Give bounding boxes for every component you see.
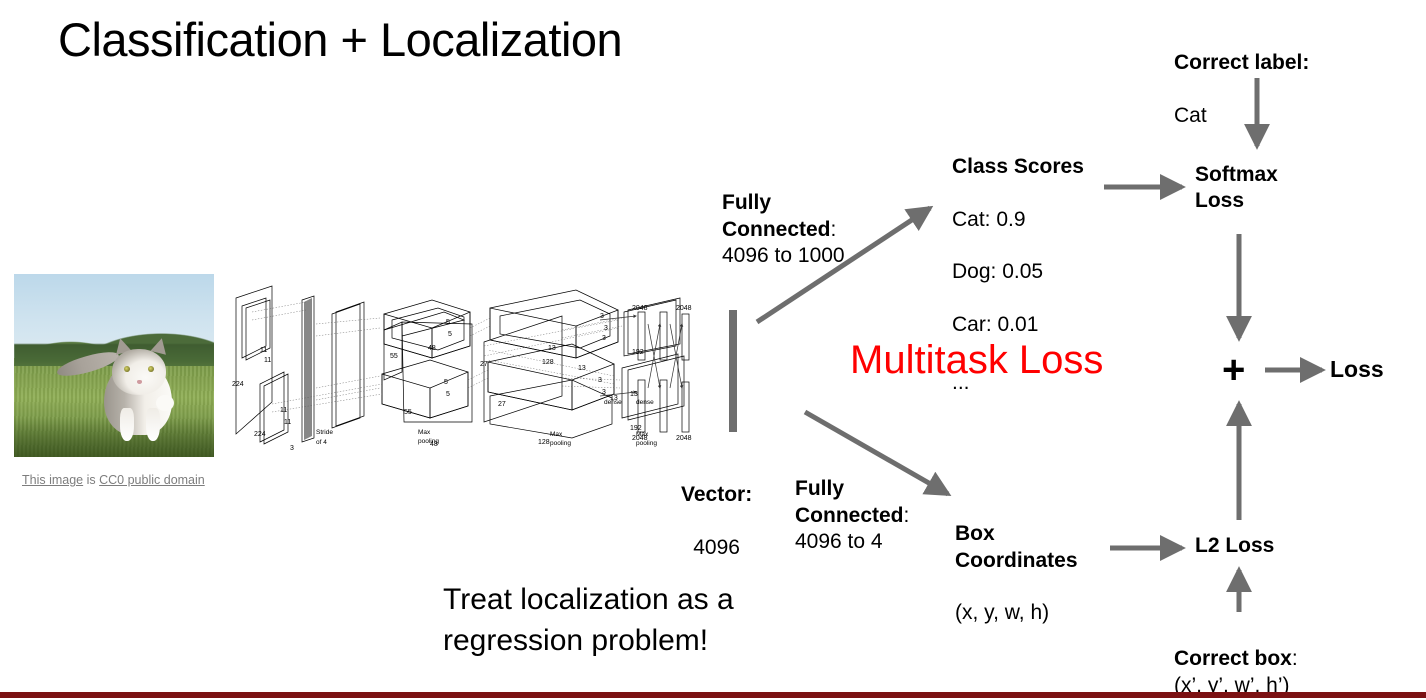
softmax-loss-node: Softmax Loss [1195,162,1278,215]
svg-text:2048: 2048 [632,435,648,442]
svg-text:224: 224 [232,381,244,388]
correct-box-heading: Correct box [1174,647,1292,670]
image-credit-separator: is [83,473,99,487]
class-score-row: Dog: 0.05 [952,259,1084,285]
slide-canvas: Classification + Localization This image… [0,0,1426,700]
cat-head [112,349,166,395]
svg-text:27: 27 [498,401,506,408]
fc1-detail: 4096 to 1000 [722,243,845,269]
box-coordinates-value: (x, y, w, h) [955,600,1078,626]
alexnet-architecture-diagram: 224 224 3 11 11 11 11 Stride of 4 55 55 … [232,284,694,450]
svg-text:Max: Max [550,431,563,438]
fully-connected-1-block: Fully Connected: 4096 to 1000 [722,164,845,295]
multitask-loss-annotation: Multitask Loss [850,338,1103,383]
svg-text:224: 224 [254,431,266,438]
fully-connected-2-block: Fully Connected: 4096 to 4 [795,450,909,581]
correct-label-block: Correct label: Cat [1174,24,1309,155]
input-image [14,274,214,457]
svg-text:27: 27 [480,361,488,368]
correct-box-block: Correct box: (x’, y’, w’, h’) [1174,620,1298,700]
cat-eye-right [148,366,154,372]
l2-loss-node: L2 Loss [1195,533,1274,559]
image-credit-link[interactable]: This image [22,473,83,487]
cat-leg-left [120,408,134,441]
total-loss-node: Loss [1330,356,1384,383]
class-score-row: Car: 0.01 [952,312,1084,338]
svg-text:128: 128 [542,359,554,366]
svg-text:3: 3 [600,313,604,320]
cat-paw [156,395,174,411]
vector-block: Vector: 4096 [681,456,752,587]
svg-text:3: 3 [602,389,606,396]
svg-text:pooling: pooling [418,438,439,445]
svg-text:128: 128 [538,439,550,446]
cat-photo [14,274,214,457]
svg-text:5: 5 [448,331,452,338]
svg-text:of 4: of 4 [316,439,327,446]
svg-text:3: 3 [604,325,608,332]
svg-text:Max: Max [418,429,431,436]
svg-text:5: 5 [446,319,450,326]
svg-text:13: 13 [578,365,586,372]
plus-operator: + [1222,350,1245,390]
svg-text:2048: 2048 [676,435,692,442]
fc1-label: Fully Connected [722,191,831,240]
svg-text:5: 5 [444,379,448,386]
svg-text:3: 3 [598,377,602,384]
feature-vector-bar [729,310,737,432]
bottom-note: Treat localization as a regression probl… [443,580,734,661]
vector-size: 4096 [681,535,752,561]
correct-label-value: Cat [1174,103,1309,129]
svg-text:pooling: pooling [550,440,571,447]
image-credit-caption: This image is CC0 public domain [22,473,205,487]
bottom-accent-bar [0,692,1426,698]
svg-text:3: 3 [602,335,606,342]
svg-text:2048: 2048 [632,305,648,312]
class-score-row: Cat: 0.9 [952,207,1084,233]
box-coordinates-heading: Box Coordinates [955,521,1078,574]
fc2-detail: 4096 to 4 [795,529,909,555]
svg-text:2048: 2048 [676,305,692,312]
svg-text:3: 3 [290,445,294,450]
fc2-label: Fully Connected [795,477,904,526]
fc2-colon: : [904,504,910,527]
box-coordinates-block: Box Coordinates (x, y, w, h) [955,495,1078,653]
fc1-colon: : [831,218,837,241]
cat-eye-left [124,366,130,372]
cat-leg-right [146,408,160,441]
svg-text:11: 11 [284,419,291,426]
svg-text:11: 11 [264,357,271,364]
svg-text:11: 11 [260,347,267,354]
svg-text:dense: dense [636,399,654,406]
svg-text:Stride: Stride [316,429,333,436]
svg-text:48: 48 [428,345,436,352]
page-title: Classification + Localization [58,14,622,66]
correct-label-heading: Correct label: [1174,50,1309,76]
svg-text:13: 13 [630,391,638,398]
svg-text:55: 55 [390,353,398,360]
svg-text:5: 5 [446,391,450,398]
svg-text:55: 55 [404,409,412,416]
class-scores-heading: Class Scores [952,154,1084,180]
svg-text:192: 192 [632,349,644,356]
license-link[interactable]: CC0 public domain [99,473,205,487]
vector-label: Vector: [681,482,752,508]
svg-text:11: 11 [280,407,287,414]
svg-text:13: 13 [548,345,556,352]
correct-box-colon: : [1292,647,1298,670]
svg-text:dense: dense [604,399,622,406]
